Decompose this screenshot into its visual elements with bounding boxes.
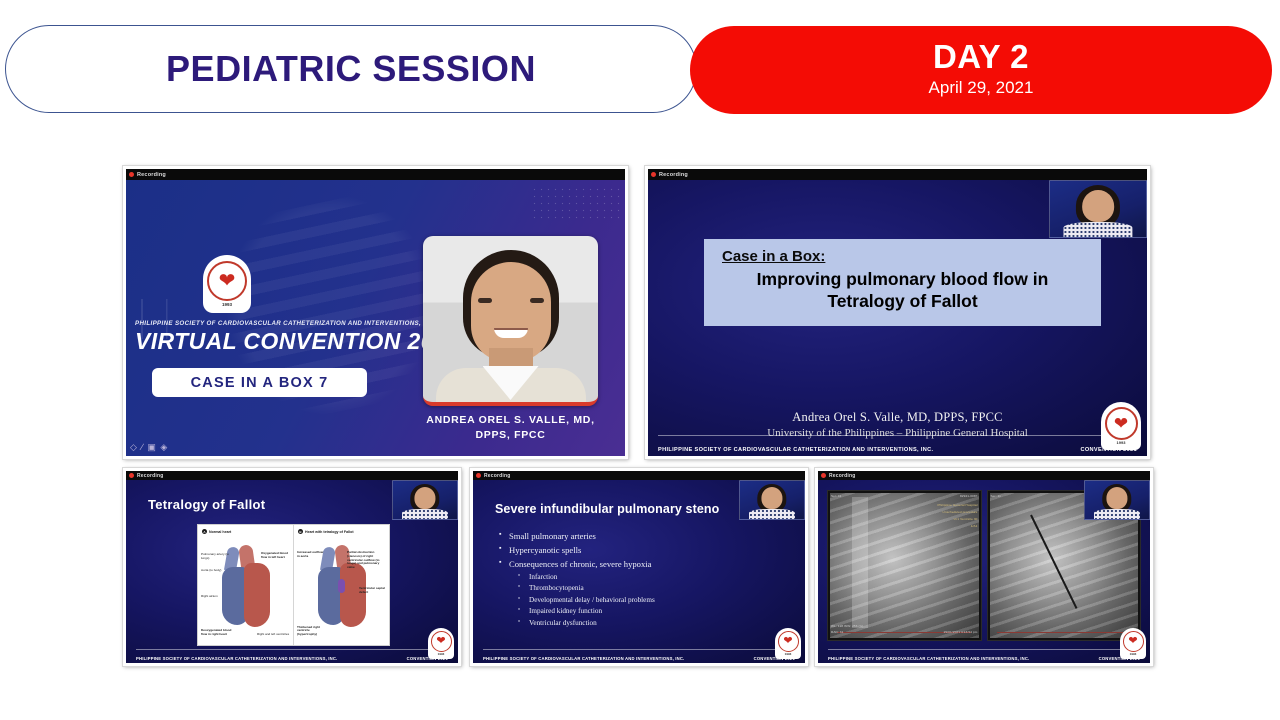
heart-icon: ❤: [219, 271, 236, 291]
footer-org: PHILIPPINE SOCIETY OF CARDIOVASCULAR CAT…: [828, 656, 1029, 661]
recording-indicator-bar: Recording: [473, 471, 805, 480]
pip-body: [1063, 222, 1132, 237]
video-tile-tetralogy-diagram[interactable]: Recording Tetralogy of Fallot A Normal h…: [123, 468, 461, 666]
day-badge-title: DAY 2: [933, 40, 1029, 75]
pip-face: [414, 487, 435, 509]
list-item: Thrombocytopenia: [499, 583, 795, 595]
slide-title: Tetralogy of Fallot: [148, 497, 265, 512]
heart-icon: ❤: [1114, 415, 1128, 432]
heart-icon: ❤: [1128, 636, 1137, 647]
video-tile-case-title[interactable]: Recording Case in a Box: Improving pulmo…: [645, 166, 1150, 459]
day-badge-date: April 29, 2021: [929, 75, 1034, 101]
slide-footer: PHILIPPINE SOCIETY OF CARDIOVASCULAR CAT…: [828, 656, 1140, 661]
recording-label: Recording: [829, 473, 856, 479]
dot-pattern-decoration: [531, 186, 621, 220]
logo-year: 1993: [785, 652, 792, 656]
heart-icon: ❤: [783, 636, 792, 647]
pip-body: [749, 509, 795, 519]
fluoroscopy-image-left[interactable]: Ser: 11 82921-0087 Philippine General Ho…: [827, 490, 982, 641]
author-name: Andrea Orel S. Valle, MD, DPPS, FPCC: [648, 410, 1147, 425]
note-right-atrium: Right atrium: [201, 595, 223, 599]
tile-screen: Recording Severe infundibular pulmonary …: [473, 471, 805, 663]
recording-dot-icon: [476, 473, 481, 478]
webcam-pip[interactable]: [1049, 180, 1147, 238]
slide-footer: PHILIPPINE SOCIETY OF CARDIOVASCULAR CAT…: [658, 447, 1137, 453]
footer-org: PHILIPPINE SOCIETY OF CARDIOVASCULAR CAT…: [483, 656, 684, 661]
pscci-logo: ❤ 1993: [428, 628, 454, 659]
recording-dot-icon: [821, 473, 826, 478]
case-badge-label: CASE IN A BOX 7: [191, 375, 329, 391]
recording-label: Recording: [137, 473, 164, 479]
video-tile-angiography[interactable]: Recording Ser: 11 82921-0087: [815, 468, 1153, 666]
presentation-nav-icons[interactable]: ◇ ∕ ▣ ◈: [130, 442, 168, 453]
pip-body: [1094, 509, 1140, 519]
diagram-panel-tof: B Heart with tetralogy of Fallot Increas…: [293, 525, 389, 645]
tile-screen: Recording Tetralogy of Fallot A Normal h…: [126, 471, 458, 663]
septal-defect-shape: [338, 579, 345, 593]
footer-divider: [828, 649, 1140, 650]
footer-org: PHILIPPINE SOCIETY OF CARDIOVASCULAR CAT…: [658, 447, 933, 453]
slide-content: Case in a Box: Improving pulmonary blood…: [648, 180, 1147, 456]
logo-ring: ❤: [778, 631, 799, 652]
pip-face: [1106, 487, 1127, 509]
panel-a-badge: A: [202, 529, 207, 534]
photo-eyes: [478, 298, 544, 303]
photo-smile: [494, 328, 528, 338]
photo-face: [471, 262, 551, 362]
slide-page: PEDIATRIC SESSION DAY 2 April 29, 2021 R…: [0, 0, 1280, 720]
series-label-right: Ser: 11: [991, 494, 1001, 498]
slide-content: Tetralogy of Fallot A Normal heart: [126, 480, 458, 663]
recording-indicator-bar: Recording: [126, 169, 625, 180]
timestamp-label: 29/01/2021 4:16:54 pm: [944, 630, 978, 634]
recording-label: Recording: [137, 172, 166, 178]
logo-year: 1993: [438, 652, 445, 656]
logo-ring: ❤: [1105, 407, 1138, 440]
rad-label: RAD: 31: [831, 630, 843, 634]
panel-b-label: Heart with tetralogy of Fallot: [305, 530, 354, 534]
pip-face: [1082, 190, 1114, 222]
slide-footer: PHILIPPINE SOCIETY OF CARDIOVASCULAR CAT…: [483, 656, 795, 661]
logo-ring: ❤: [431, 631, 452, 652]
pscci-logo: ❤ 1993: [203, 255, 251, 313]
note-deoxygenated-flow: Deoxygenated blood flow in right heart: [201, 629, 233, 637]
list-item: Impaired kidney function: [499, 606, 795, 618]
video-tile-pulmonary-stenosis[interactable]: Recording Severe infundibular pulmonary …: [470, 468, 808, 666]
slide-title: Severe infundibular pulmonary steno: [495, 502, 719, 516]
overlay-ventricle: LV1 Ventricle 30: [954, 517, 978, 521]
logo-ring: ❤: [1123, 631, 1144, 652]
tile-screen: Recording Case in a Box: Improving pulmo…: [648, 169, 1147, 456]
note-ventricles: Right and left ventricles: [257, 633, 291, 637]
webcam-pip[interactable]: [1084, 480, 1150, 520]
list-item: Developmental delay / behavioral problem…: [499, 595, 795, 607]
author-affiliation: University of the Philippines – Philippi…: [648, 427, 1147, 439]
window-level-label: WL: 128 WW: 256 (G): [831, 624, 863, 628]
recording-dot-icon: [651, 172, 656, 177]
pscci-logo: ❤ 1993: [1101, 402, 1141, 450]
bullet-list: Small pulmonary arteries Hypercyanotic s…: [499, 530, 795, 629]
panel-b-label-row: B Heart with tetralogy of Fallot: [298, 529, 385, 534]
footer-org: PHILIPPINE SOCIETY OF CARDIOVASCULAR CAT…: [136, 656, 337, 661]
speaker-name: ANDREA OREL S. VALLE, MD, DPPS, FPCC: [408, 413, 613, 443]
overlay-hospital: Philippine General Hospital: [937, 503, 977, 507]
panel-a-label: Normal heart: [209, 530, 231, 534]
progress-bar[interactable]: [997, 632, 1131, 633]
study-id-left: 82921-0087: [960, 494, 978, 498]
recording-label: Recording: [659, 172, 688, 178]
list-item: Hypercyanotic spells: [499, 544, 795, 558]
recording-label: Recording: [484, 473, 511, 479]
overlay-index: 1/A1: [971, 524, 978, 528]
footer-divider: [483, 649, 795, 650]
list-item: Ventricular dysfunction: [499, 618, 795, 630]
note-vsd: Ventricular septal defect: [359, 587, 387, 595]
slide-content: Severe infundibular pulmonary steno Smal…: [473, 480, 805, 663]
recording-indicator-bar: Recording: [126, 471, 458, 480]
webcam-pip[interactable]: [392, 480, 458, 520]
recording-indicator-bar: Recording: [818, 471, 1150, 480]
spine-shadow: [852, 497, 867, 628]
slide-content: Ser: 11 82921-0087 Philippine General Ho…: [818, 480, 1150, 663]
pscci-logo: ❤ 1993: [1120, 628, 1146, 659]
logo-year: 1993: [1117, 440, 1126, 445]
note-aorta: Aorta (to body): [201, 569, 227, 573]
diagram-panel-normal: A Normal heart Pulmonary artery (to lung…: [198, 525, 293, 645]
left-ventricle-shape: [244, 563, 270, 627]
session-title-pill: PEDIATRIC SESSION: [5, 25, 697, 113]
footer-divider: [658, 435, 1137, 436]
list-item: Consequences of chronic, severe hypoxia: [499, 558, 795, 572]
logo-ring: ❤: [207, 261, 247, 301]
case-badge: CASE IN A BOX 7: [152, 368, 367, 397]
logo-year: 1993: [1130, 652, 1137, 656]
pip-face: [761, 487, 782, 509]
list-item: Small pulmonary arteries: [499, 530, 795, 544]
slide-footer: PHILIPPINE SOCIETY OF CARDIOVASCULAR CAT…: [136, 656, 448, 661]
note-pulmonary-artery: Pulmonary artery (to lungs): [201, 553, 233, 561]
recording-dot-icon: [129, 172, 134, 177]
logo-year: 1993: [222, 302, 232, 307]
panel-a-label-row: A Normal heart: [202, 529, 289, 534]
overlay-procedure: Unscheduled procedure: [943, 510, 978, 514]
series-label-left: Ser: 11: [831, 494, 841, 498]
list-item: Infarction: [499, 572, 795, 584]
pip-body: [402, 509, 448, 519]
slide-eyebrow: Case in a Box:: [710, 248, 1095, 265]
footer-divider: [136, 649, 448, 650]
speaker-photo: [423, 236, 598, 406]
video-tile-title-slide[interactable]: Recording ❤ 1993 PHILIPPINE SOCIETY OF C…: [123, 166, 628, 459]
convention-title: VIRTUAL CONVENTION 2021: [135, 328, 460, 355]
heart-icon: ❤: [436, 636, 445, 647]
tile-screen: Recording Ser: 11 82921-0087: [818, 471, 1150, 663]
webcam-pip[interactable]: [739, 480, 805, 520]
page-title: PEDIATRIC SESSION: [166, 48, 536, 90]
panel-b-badge: B: [298, 529, 303, 534]
note-increased-outflow: Increased outflow in aorta: [297, 551, 325, 559]
day-badge: DAY 2 April 29, 2021: [690, 26, 1272, 114]
note-thickened-rv: Thickened right ventricle (hypertrophy): [297, 626, 329, 637]
slide-title-line2: Tetralogy of Fallot: [710, 290, 1095, 312]
note-partial-obstruction: Partial obstruction (stenosis) of right …: [347, 551, 387, 570]
slide-title-line1: Improving pulmonary blood flow in: [710, 268, 1095, 290]
heart-diagram: A Normal heart Pulmonary artery (to lung…: [197, 524, 390, 646]
slide-title-box: Case in a Box: Improving pulmonary blood…: [704, 239, 1101, 326]
recording-dot-icon: [129, 473, 134, 478]
note-oxygenated-flow: Oxygenated blood flow in left heart: [261, 552, 291, 560]
tile-screen: Recording ❤ 1993 PHILIPPINE SOCIETY OF C…: [126, 169, 625, 456]
recording-indicator-bar: Recording: [648, 169, 1147, 180]
left-ventricle-shape: [340, 563, 366, 627]
organization-line: PHILIPPINE SOCIETY OF CARDIOVASCULAR CAT…: [135, 320, 435, 327]
slide-content: ❤ 1993 PHILIPPINE SOCIETY OF CARDIOVASCU…: [126, 180, 625, 456]
pscci-logo: ❤ 1993: [775, 628, 801, 659]
